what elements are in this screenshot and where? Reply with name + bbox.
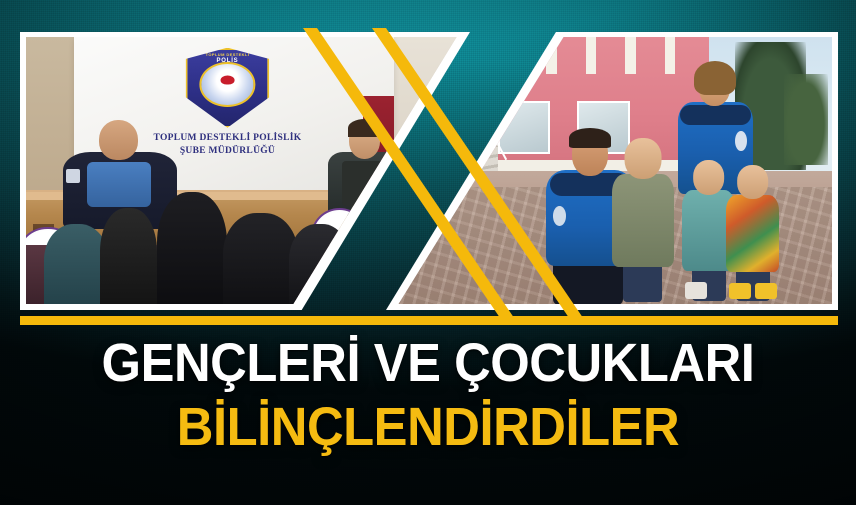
pine-tree [784,74,828,165]
headline-line-2: BİLİNÇLENDİRDİLER [26,400,831,454]
officer-arm-patch [553,206,566,226]
audience-head [44,224,110,304]
female-officer-shoulders [680,105,752,125]
audience-head [157,192,227,304]
facade-pillar [625,37,636,74]
badge-top-label: TOPLUM DESTEKLİ [206,52,250,57]
child-boot [755,283,777,299]
facade-pillar [665,37,676,74]
badge-inner-circle [199,62,256,107]
news-graphic-card: TOPLUM DESTEKLİ POLİS TOPLUM DESTEKLİ PO… [0,0,856,505]
officer-blue-vest [87,162,151,207]
audience-head [100,208,157,304]
audience-head [223,213,297,304]
female-officer-hair [694,61,736,95]
bottom-gold-bar [20,316,838,325]
child-green-coat [612,138,674,298]
officer-head [99,120,138,161]
officer-shoulder-patch [66,169,80,183]
headline-line-1: GENÇLERİ VE ÇOCUKLARI [26,336,831,390]
child-patterned-coat [726,165,779,299]
child-head [737,165,769,198]
badge-emblem-icon [221,76,235,85]
child-head [693,160,725,195]
police-badge-icon: TOPLUM DESTEKLİ POLİS [186,48,269,128]
female-officer-patch [735,131,747,151]
child-coat [726,195,779,272]
officer-hair [569,128,611,148]
child-head [624,138,661,178]
child-coat [612,174,674,267]
child-boot [729,283,751,299]
facade-pillar [586,37,597,74]
child-shoe [685,282,707,299]
